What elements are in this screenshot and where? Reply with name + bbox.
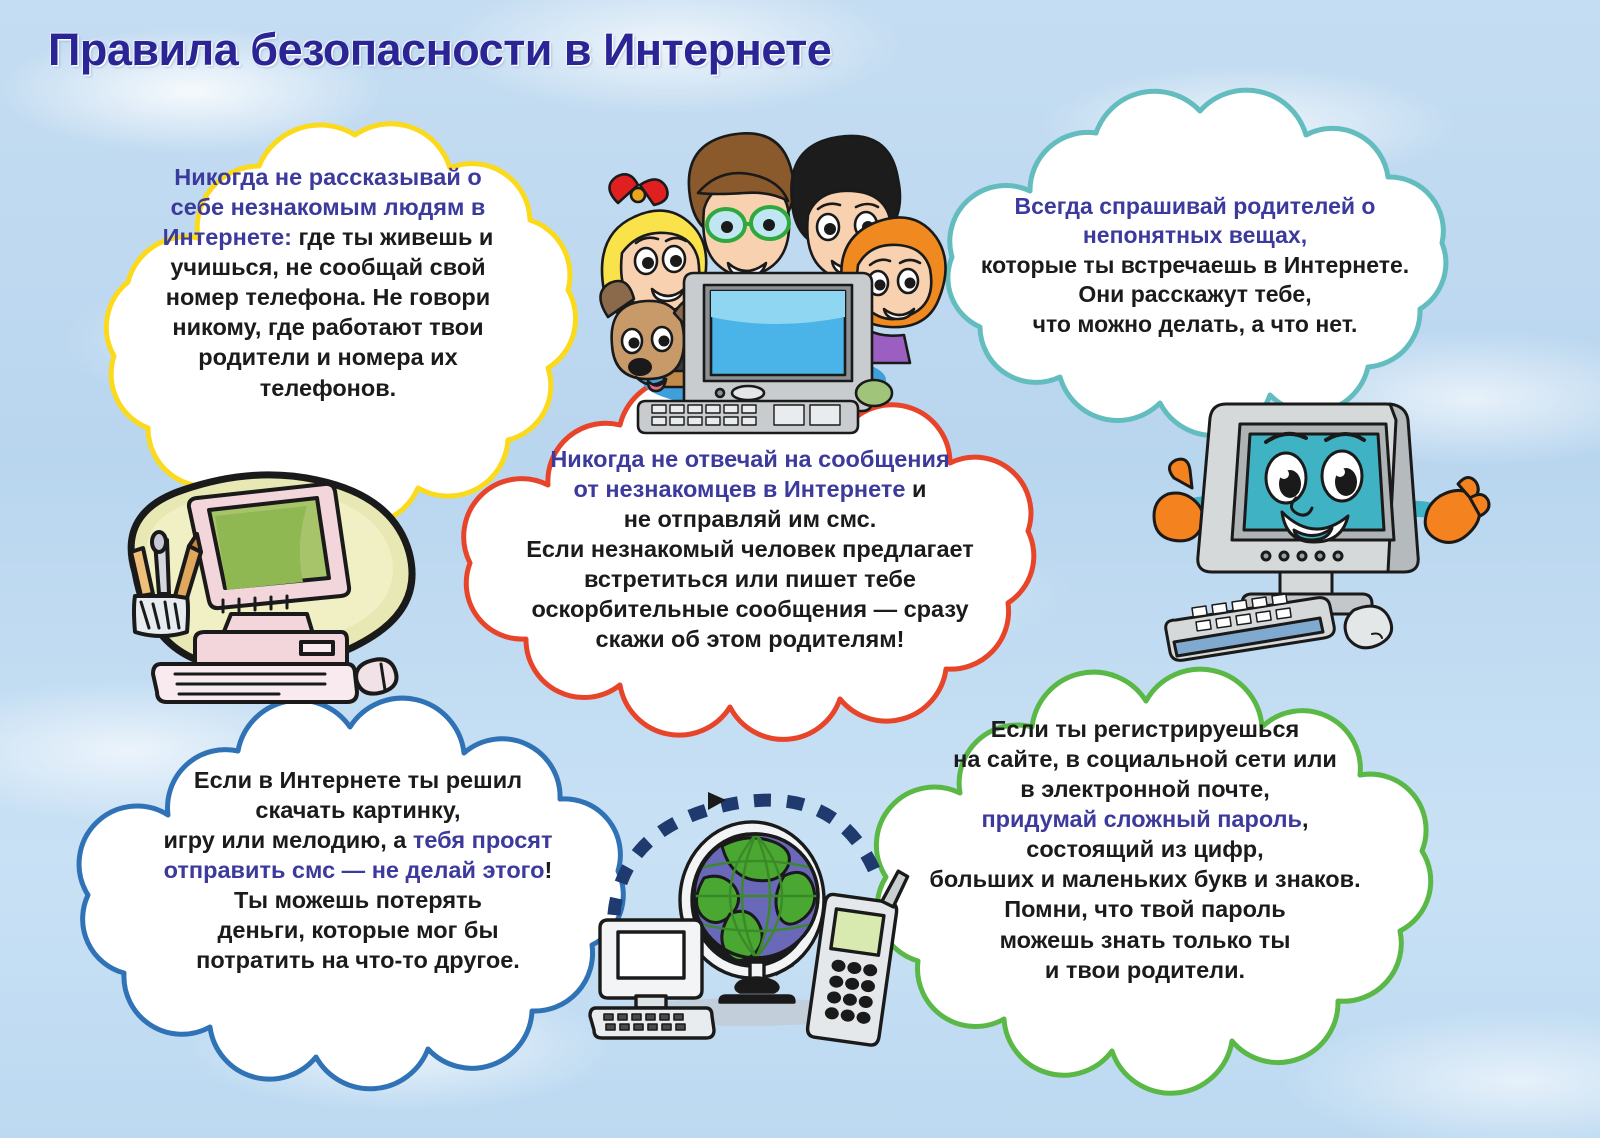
- cloud-1-text: Никогда не рассказывай осебе незнакомым …: [128, 162, 528, 403]
- body-text: больших и маленьких букв и знаков.: [929, 866, 1360, 892]
- body-text: Если в Интернете ты решил: [194, 767, 522, 793]
- cloud-text-line: себе незнакомым людям в: [128, 192, 528, 222]
- cloud-text-line: учишься, не сообщай свой: [128, 252, 528, 282]
- body-text: можешь знать только ты: [1000, 927, 1291, 953]
- body-text: которые ты встречаешь в Интернете.: [981, 252, 1409, 278]
- cloud-text-line: и твои родители.: [880, 955, 1410, 985]
- body-text: и: [905, 476, 926, 502]
- cloud-text-line: Если незнакомый человек предлагает: [470, 534, 1030, 564]
- cloud-text-line: игру или мелодию, а тебя просят: [128, 825, 588, 855]
- cloud-text-line: больших и маленьких букв и знаков.: [880, 864, 1410, 894]
- body-text: родители и номера их: [198, 344, 457, 370]
- cloud-3-text: Никогда не отвечай на сообщенияот незнак…: [470, 444, 1030, 655]
- body-text: игру или мелодию, а: [163, 827, 412, 853]
- cloud-text-line: от незнакомцев в Интернете и: [470, 474, 1030, 504]
- cloud-text-line: отправить смс — не делай этого!: [128, 855, 588, 885]
- highlighted-text: тебя просят: [413, 827, 553, 853]
- cloud-text-line: на сайте, в социальной сети или: [880, 744, 1410, 774]
- cloud-text-line: не отправляй им смс.: [470, 504, 1030, 534]
- body-text: встретиться или пишет тебе: [584, 566, 916, 592]
- highlighted-text: Интернете:: [163, 224, 292, 250]
- body-text: деньги, которые мог бы: [217, 917, 498, 943]
- cloud-5-text: Если ты регистрируешьсяна сайте, в социа…: [880, 714, 1410, 985]
- globe-and-devices-illustration: [580, 772, 920, 1052]
- cloud-text-line: Никогда не отвечай на сообщения: [470, 444, 1030, 474]
- highlighted-text: отправить смс — не делай этого: [164, 857, 545, 883]
- body-text: телефонов.: [260, 375, 396, 401]
- cloud-text-line: скажи об этом родителям!: [470, 624, 1030, 654]
- kids-at-computer-illustration: [578, 105, 938, 420]
- page-title: Правила безопасности в Интернете: [48, 24, 831, 76]
- cloud-text-line: потратить на что-то другое.: [128, 945, 588, 975]
- cloud-text-line: придумай сложный пароль,: [880, 804, 1410, 834]
- body-text: Если незнакомый человек предлагает: [526, 536, 974, 562]
- cloud-text-line: Интернете: где ты живешь и: [128, 222, 528, 252]
- body-text: где ты живешь и: [292, 224, 493, 250]
- poster-root: Правила безопасности в Интернете Никогда…: [0, 0, 1600, 1138]
- body-text: потратить на что-то другое.: [196, 947, 520, 973]
- cloud-text-line: никому, где работают твои: [128, 312, 528, 342]
- cloud-text-line: телефонов.: [128, 373, 528, 403]
- cloud-text-line: Ты можешь потерять: [128, 885, 588, 915]
- body-text: Ты можешь потерять: [234, 887, 482, 913]
- cloud-text-line: Если ты регистрируешься: [880, 714, 1410, 744]
- cloud-text-line: что можно делать, а что нет.: [930, 310, 1460, 339]
- highlighted-text: себе незнакомым людям в: [171, 194, 486, 220]
- body-text: ,: [1302, 806, 1309, 832]
- body-text: и твои родители.: [1045, 957, 1245, 983]
- cloud-text-line: которые ты встречаешь в Интернете.: [930, 251, 1460, 280]
- body-text: не отправляй им смс.: [624, 506, 877, 532]
- cloud-text-line: деньги, которые мог бы: [128, 915, 588, 945]
- cloud-text-line: в электронной почте,: [880, 774, 1410, 804]
- cloud-text-line: скачать картинку,: [128, 795, 588, 825]
- body-text: Помни, что твой пароль: [1004, 896, 1285, 922]
- body-text: в электронной почте,: [1020, 776, 1269, 802]
- cloud-text-line: непонятных вещах,: [930, 221, 1460, 250]
- highlighted-text: непонятных вещах,: [1083, 222, 1307, 248]
- highlighted-text: от незнакомцев в Интернете: [574, 476, 906, 502]
- cloud-text-line: Они расскажут тебе,: [930, 280, 1460, 309]
- smiling-computer-mascot-illustration: [1140, 370, 1490, 670]
- desk-computer-illustration: [105, 462, 435, 712]
- body-text: !: [545, 857, 553, 883]
- highlighted-text: Никогда не рассказывай о: [174, 164, 481, 190]
- cloud-text-line: Никогда не рассказывай о: [128, 162, 528, 192]
- cloud-text-line: номер телефона. Не говори: [128, 282, 528, 312]
- body-text: оскорбительные сообщения — сразу: [531, 596, 968, 622]
- body-text: никому, где работают твои: [172, 314, 483, 340]
- body-text: на сайте, в социальной сети или: [953, 746, 1337, 772]
- cloud-text-line: можешь знать только ты: [880, 925, 1410, 955]
- cloud-text-line: Всегда спрашивай родителей о: [930, 192, 1460, 221]
- cloud-text-line: оскорбительные сообщения — сразу: [470, 594, 1030, 624]
- cloud-text-line: встретиться или пишет тебе: [470, 564, 1030, 594]
- body-text: номер телефона. Не говори: [166, 284, 490, 310]
- highlighted-text: Никогда не отвечай на сообщения: [550, 446, 949, 472]
- cloud-text-line: Помни, что твой пароль: [880, 894, 1410, 924]
- body-text: скажи об этом родителям!: [596, 626, 905, 652]
- body-text: учишься, не сообщай свой: [170, 254, 485, 280]
- body-text: состоящий из цифр,: [1026, 836, 1263, 862]
- body-text: что можно делать, а что нет.: [1033, 311, 1358, 337]
- cloud-text-line: Если в Интернете ты решил: [128, 765, 588, 795]
- cloud-text-line: родители и номера их: [128, 342, 528, 372]
- cloud-2-text: Всегда спрашивай родителей онепонятных в…: [930, 192, 1460, 339]
- body-text: Если ты регистрируешься: [991, 716, 1299, 742]
- highlighted-text: Всегда спрашивай родителей о: [1015, 193, 1376, 219]
- body-text: Они расскажут тебе,: [1078, 281, 1311, 307]
- highlighted-text: придумай сложный пароль: [981, 806, 1301, 832]
- cloud-text-line: состоящий из цифр,: [880, 834, 1410, 864]
- body-text: скачать картинку,: [255, 797, 460, 823]
- cloud-4-text: Если в Интернете ты решилскачать картинк…: [128, 765, 588, 976]
